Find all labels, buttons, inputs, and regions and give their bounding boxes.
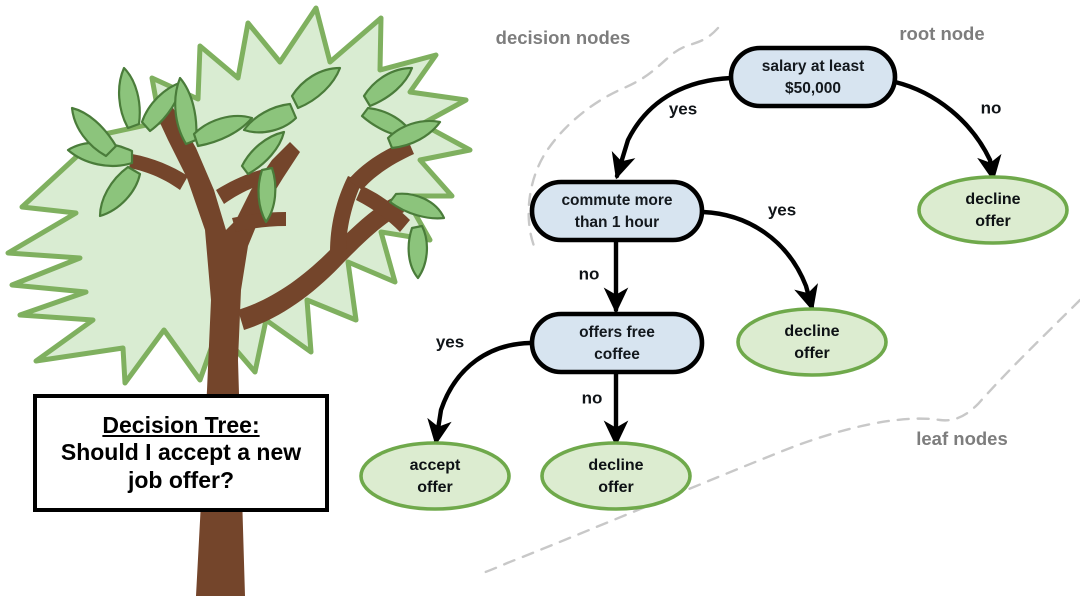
- leaf-node-label-line1: decline: [588, 457, 643, 474]
- edge-label-coffee-yes: yes: [436, 332, 464, 351]
- leaf-node-label-line2: offer: [794, 345, 830, 362]
- leaf-blade: [409, 226, 427, 278]
- decision-node-shape: [731, 48, 895, 106]
- edge-label-coffee-no: no: [582, 388, 603, 407]
- leaf-node-label-line1: decline: [784, 323, 839, 340]
- title-card-heading: Decision Tree:: [102, 412, 259, 439]
- decision-node-label-line1: commute more: [561, 192, 672, 209]
- edge-label-commute-yes: yes: [768, 200, 796, 219]
- decision-node-label-line2: coffee: [594, 346, 640, 363]
- leaf-node-label-line2: offer: [598, 479, 634, 496]
- decision-node-coffee[interactable]: offers free coffee: [532, 314, 702, 372]
- leaf-node-shape: [919, 177, 1067, 243]
- title-card-line2: Should I accept a new: [61, 439, 301, 466]
- decision-node-commute[interactable]: commute more than 1 hour: [532, 182, 702, 240]
- edge-coffee-yes: [436, 343, 530, 442]
- leaf-node-shape: [361, 443, 509, 509]
- leaf-node-decline-coffee[interactable]: decline offer: [542, 443, 690, 509]
- annotation-leaf-nodes: leaf nodes: [916, 428, 1008, 449]
- decision-node-root[interactable]: salary at least $50,000: [731, 48, 895, 106]
- leaf-node-accept[interactable]: accept offer: [361, 443, 509, 509]
- decision-node-shape: [532, 314, 702, 372]
- edge-label-root-yes: yes: [669, 99, 697, 118]
- leaf-node-label-line2: offer: [417, 479, 453, 496]
- decision-node-label-line2: $50,000: [785, 80, 841, 97]
- edge-root-no: [895, 82, 993, 178]
- diagram-canvas: salary at least $50,000 commute more tha…: [0, 0, 1080, 596]
- leaf-node-shape: [738, 309, 886, 375]
- leaf-node-label-line1: decline: [965, 191, 1020, 208]
- edge-label-root-no: no: [981, 98, 1002, 117]
- annotation-root-node: root node: [899, 23, 984, 44]
- title-card-line3: job offer?: [128, 467, 234, 494]
- decision-node-shape: [532, 182, 702, 240]
- leaf-node-decline-commute[interactable]: decline offer: [738, 309, 886, 375]
- edge-label-commute-no: no: [579, 264, 600, 283]
- title-card: Decision Tree: Should I accept a new job…: [33, 394, 329, 512]
- decision-node-label-line1: offers free: [579, 324, 655, 341]
- annotation-decision-nodes: decision nodes: [496, 27, 631, 48]
- leaf-node-label-line2: offer: [975, 213, 1011, 230]
- tree-edges: [436, 78, 993, 443]
- decision-node-label-line2: than 1 hour: [575, 214, 659, 231]
- leaf-node-label-line1: accept: [410, 457, 461, 474]
- leaf-blade: [119, 68, 140, 128]
- edge-commute-yes: [703, 212, 812, 308]
- leaf-node-decline-salary[interactable]: decline offer: [919, 177, 1067, 243]
- leaf-node-shape: [542, 443, 690, 509]
- decision-node-label-line1: salary at least: [762, 58, 865, 75]
- edge-root-yes: [617, 78, 731, 176]
